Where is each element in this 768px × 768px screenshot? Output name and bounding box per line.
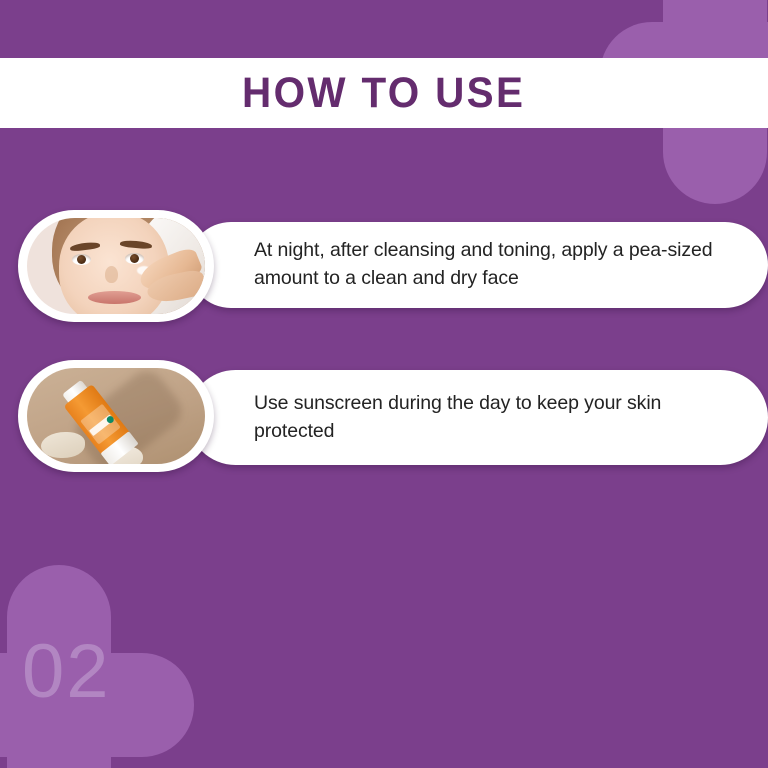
nose-shape — [105, 266, 118, 283]
step-thumbnail-frame — [18, 360, 214, 472]
cream-blob-left — [41, 432, 85, 458]
photo-illustration — [27, 368, 205, 464]
step-text-card: Use sunscreen during the day to keep you… — [188, 370, 768, 465]
step-instruction-text: Use sunscreen during the day to keep you… — [254, 390, 740, 445]
page-title: HOW TO USE — [242, 69, 525, 118]
step-row: At night, after cleansing and toning, ap… — [18, 210, 214, 322]
step-row: Use sunscreen during the day to keep you… — [18, 360, 214, 472]
step-thumbnail-frame — [18, 210, 214, 322]
step-number-watermark: 02 — [22, 634, 111, 710]
sunscreen-tube-photo — [27, 368, 205, 464]
step-instruction-text: At night, after cleansing and toning, ap… — [254, 237, 740, 292]
lips-shape — [88, 291, 141, 304]
face-cream-application-photo — [27, 218, 205, 314]
eye-right — [125, 253, 144, 264]
header-band: HOW TO USE — [0, 58, 768, 128]
photo-illustration — [27, 218, 205, 314]
iris — [130, 254, 139, 263]
iris — [77, 255, 86, 264]
step-text-card: At night, after cleansing and toning, ap… — [188, 222, 768, 308]
how-to-use-poster: 02 HOW TO USE At night, after cleansing … — [0, 0, 768, 768]
